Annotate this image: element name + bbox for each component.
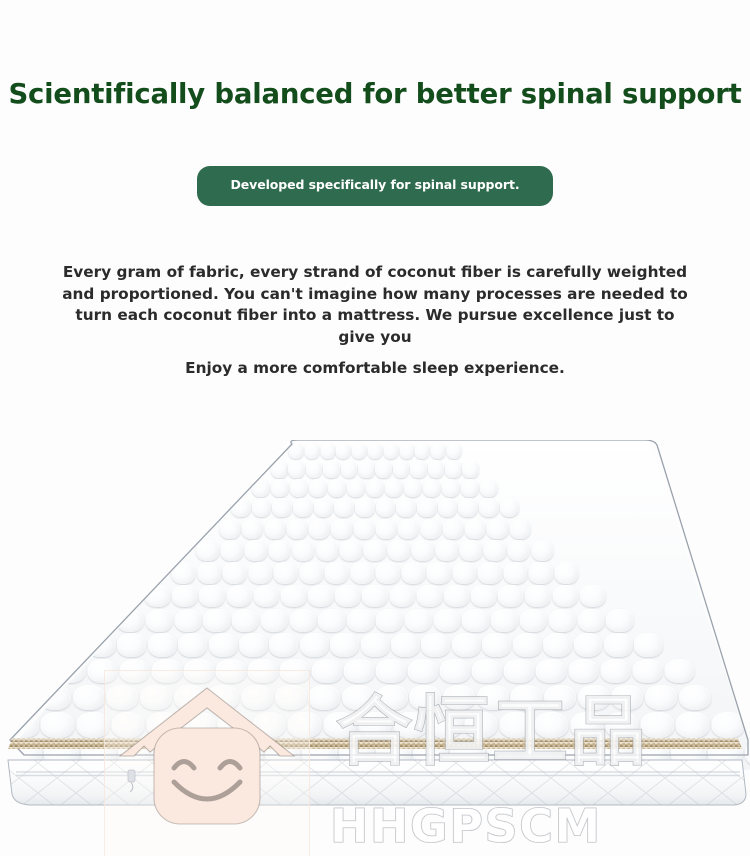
quilt-puff (410, 685, 442, 710)
quilt-puff (362, 585, 388, 607)
quilt-puff (320, 442, 335, 459)
quilt-puff (87, 633, 116, 657)
quilt-puff (376, 562, 400, 584)
quilt-puff (417, 498, 437, 517)
quilt-puff (316, 540, 339, 561)
quilt-puff (309, 519, 330, 539)
quilt-puff (148, 633, 177, 657)
quilt-puff (232, 609, 259, 632)
quilt-puff (325, 562, 349, 584)
quilt-puff (41, 712, 75, 738)
quilt-puff (271, 479, 289, 498)
quilt-puff (507, 540, 530, 561)
quilt-puff (196, 540, 219, 561)
quilt-puff (679, 685, 711, 710)
quilt-puff (366, 479, 384, 498)
quilt-puff (554, 562, 578, 584)
product-photo: 合恒工品 HHGPSCM (0, 330, 750, 856)
quilt-puff (355, 498, 375, 517)
quilt-puff (440, 659, 470, 684)
quilt-puff (462, 460, 479, 478)
quilt-puff (220, 519, 241, 539)
quilt-puff (444, 585, 470, 607)
quilt-puff (241, 685, 273, 710)
quilt-puff (147, 712, 181, 738)
quilt-puff (399, 442, 414, 459)
quilt-puff (376, 498, 396, 517)
quilt-puff (203, 609, 230, 632)
quilt-puff (261, 609, 288, 632)
quilt-puff (442, 479, 460, 498)
quilt-puff (459, 540, 482, 561)
quilt-puff (197, 562, 221, 584)
quilt-puff (252, 498, 272, 517)
quilt-puff (248, 659, 278, 684)
quilt-puff (570, 712, 604, 738)
quilt-puff (274, 562, 298, 584)
quilt-puff (573, 633, 602, 657)
quilt-puff (248, 562, 272, 584)
quilt-puff (330, 633, 359, 657)
quilt-puff (408, 659, 438, 684)
quilt-row (271, 460, 479, 478)
quilt-puff (336, 442, 351, 459)
quilt-puff (171, 562, 195, 584)
quilt-puff (429, 712, 463, 738)
quilt-puff (364, 540, 387, 561)
quilt-puff (252, 712, 286, 738)
quilt-puff (178, 633, 207, 657)
quilt-puff (145, 585, 171, 607)
quilt-row (220, 519, 531, 539)
quilt-puff (431, 442, 446, 459)
quilt-puff (220, 540, 243, 561)
quilt-puff (525, 585, 551, 607)
quilt-puff (174, 609, 201, 632)
quilt-puff (579, 585, 605, 607)
quilt-puff (396, 498, 416, 517)
mattress-side-panel (0, 748, 750, 818)
quilt-puff (479, 498, 499, 517)
quilt-puff (445, 460, 462, 478)
quilt-puff (482, 633, 511, 657)
quilt-puff (269, 633, 298, 657)
quilt-puff (152, 659, 182, 684)
mattress-quilting-pattern (0, 440, 750, 770)
quilt-puff (358, 712, 392, 738)
badge-container: Developed specifically for spinal suppor… (0, 166, 750, 206)
quilt-puff (383, 442, 398, 459)
quilt-puff (368, 442, 383, 459)
quilt-puff (606, 609, 633, 632)
quilt-puff (111, 712, 145, 738)
quilt-puff (428, 460, 445, 478)
quilt-puff (543, 633, 572, 657)
quilt-puff (335, 585, 361, 607)
quilt-puff (341, 460, 358, 478)
quilt-puff (612, 685, 644, 710)
quilt-puff (289, 609, 316, 632)
quilt-puff (299, 562, 323, 584)
quilt-puff (641, 712, 675, 738)
quilt-puff (375, 460, 392, 478)
quilt-puff (487, 519, 508, 539)
quilt-puff (182, 712, 216, 738)
quilt-puff (462, 609, 489, 632)
quilt-puff (309, 479, 327, 498)
quilt-puff (634, 633, 663, 657)
quilt-puff (499, 498, 519, 517)
quilt-puff (209, 633, 238, 657)
quilt-puff (288, 712, 322, 738)
quilt-puff (174, 685, 206, 710)
quilt-row (196, 540, 553, 561)
quilt-puff (483, 540, 506, 561)
quilt-puff (106, 685, 138, 710)
quilt-puff (344, 659, 374, 684)
quilt-puff (577, 609, 604, 632)
quilt-puff (271, 460, 288, 478)
quilt-row (171, 562, 578, 584)
quilt-puff (334, 498, 354, 517)
quilt-puff (544, 685, 576, 710)
quilt-puff (442, 519, 463, 539)
quilt-puff (389, 585, 415, 607)
quilt-puff (361, 633, 390, 657)
quilt-puff (347, 479, 365, 498)
quilt-puff (280, 659, 310, 684)
quilt-puff (328, 479, 346, 498)
quilt-row (231, 498, 519, 517)
quilt-row (39, 685, 711, 710)
quilt-puff (423, 479, 441, 498)
mattress-image (0, 440, 750, 840)
quilt-puff (711, 712, 745, 738)
quilt-puff (416, 585, 442, 607)
quilt-puff (471, 585, 497, 607)
quilt-puff (353, 519, 374, 539)
quilt-puff (465, 519, 486, 539)
quilt-puff (268, 540, 291, 561)
quilt-puff (410, 460, 427, 478)
quilt-puff (5, 712, 39, 738)
quilt-puff (401, 562, 425, 584)
quilt-puff (347, 609, 374, 632)
quilt-puff (184, 659, 214, 684)
quilt-puff (477, 685, 509, 710)
quilt-puff (535, 712, 569, 738)
quilt-puff (504, 659, 534, 684)
quilt-puff (632, 659, 662, 684)
quilt-puff (509, 519, 530, 539)
quilt-puff (676, 712, 710, 738)
quilt-puff (464, 712, 498, 738)
quilt-puff (323, 712, 357, 738)
quilt-puff (605, 712, 639, 738)
quilt-puff (117, 633, 146, 657)
quilt-puff (290, 479, 308, 498)
quilt-puff (664, 659, 694, 684)
quilt-puff (388, 540, 411, 561)
quilt-puff (145, 609, 172, 632)
quilt-puff (458, 498, 478, 517)
quilt-puff (427, 562, 451, 584)
quilt-puff (222, 562, 246, 584)
quilt-puff (420, 519, 441, 539)
quilt-puff (76, 712, 110, 738)
quilt-puff (394, 712, 428, 738)
quilt-puff (352, 442, 367, 459)
spinal-support-badge: Developed specifically for spinal suppor… (197, 166, 554, 206)
quilt-puff (312, 659, 342, 684)
quilt-puff (600, 659, 630, 684)
quilt-puff (452, 633, 481, 657)
quilt-puff (253, 585, 279, 607)
quilt-puff (398, 519, 419, 539)
quilt-puff (385, 479, 403, 498)
quilt-puff (511, 685, 543, 710)
quilt-puff (323, 460, 340, 478)
quilt-puff (404, 479, 422, 498)
quilt-puff (342, 685, 374, 710)
quilt-puff (478, 562, 502, 584)
quilt-puff (536, 659, 566, 684)
quilt-puff (443, 685, 475, 710)
quilt-puff (289, 442, 304, 459)
quilt-puff (231, 498, 251, 517)
quilt-puff (499, 712, 533, 738)
quilt-puff (288, 460, 305, 478)
quilt-puff (376, 519, 397, 539)
quilt-puff (252, 479, 270, 498)
page-title: Scientifically balanced for better spina… (0, 78, 750, 110)
quilt-puff (435, 540, 458, 561)
quilt-puff (39, 685, 71, 710)
quilt-puff (306, 460, 323, 478)
quilt-puff (331, 519, 352, 539)
quilt-puff (415, 442, 430, 459)
quilt-row (289, 442, 462, 459)
quilt-puff (548, 609, 575, 632)
quilt-puff (531, 540, 554, 561)
quilt-puff (405, 609, 432, 632)
quilt-puff (498, 585, 524, 607)
quilt-puff (292, 540, 315, 561)
quilt-puff (199, 585, 225, 607)
quilt-puff (217, 712, 251, 738)
quilt-puff (216, 659, 246, 684)
quilt-puff (300, 633, 329, 657)
quilt-puff (433, 609, 460, 632)
quilt-puff (376, 685, 408, 710)
quilt-puff (411, 540, 434, 561)
product-detail-page: Scientifically balanced for better spina… (0, 0, 750, 856)
quilt-puff (304, 442, 319, 459)
quilt-row (5, 712, 744, 738)
quilt-puff (393, 460, 410, 478)
quilt-puff (272, 498, 292, 517)
quilt-puff (568, 659, 598, 684)
quilt-puff (117, 609, 144, 632)
quilt-puff (520, 609, 547, 632)
quilt-puff (437, 498, 457, 517)
quilt-puff (264, 519, 285, 539)
quilt-puff (73, 685, 105, 710)
quilt-puff (88, 659, 118, 684)
quilt-puff (376, 609, 403, 632)
quilt-puff (552, 585, 578, 607)
quilt-row (117, 609, 634, 632)
quilt-puff (340, 540, 363, 561)
quilt-row (145, 585, 606, 607)
quilt-puff (503, 562, 527, 584)
quilt-puff (446, 442, 461, 459)
quilt-puff (172, 585, 198, 607)
quilt-puff (513, 633, 542, 657)
quilt-puff (55, 659, 85, 684)
quilt-puff (578, 685, 610, 710)
quilt-puff (529, 562, 553, 584)
quilt-puff (472, 659, 502, 684)
quilt-puff (491, 609, 518, 632)
quilt-puff (318, 609, 345, 632)
quilt-puff (358, 460, 375, 478)
quilt-puff (350, 562, 374, 584)
quilt-puff (207, 685, 239, 710)
quilt-puff (120, 659, 150, 684)
quilt-puff (480, 479, 498, 498)
quilt-row (252, 479, 498, 498)
quilt-puff (309, 685, 341, 710)
quilt-puff (461, 479, 479, 498)
quilt-puff (604, 633, 633, 657)
quilt-puff (226, 585, 252, 607)
quilt-puff (308, 585, 334, 607)
quilt-row (55, 659, 694, 684)
quilt-puff (645, 685, 677, 710)
quilt-puff (391, 633, 420, 657)
quilt-puff (275, 685, 307, 710)
quilt-puff (140, 685, 172, 710)
quilt-puff (376, 659, 406, 684)
quilt-puff (239, 633, 268, 657)
quilt-puff (244, 540, 267, 561)
quilt-puff (421, 633, 450, 657)
quilt-puff (314, 498, 334, 517)
quilt-puff (286, 519, 307, 539)
quilt-row (87, 633, 663, 657)
quilt-puff (242, 519, 263, 539)
quilt-puff (293, 498, 313, 517)
quilt-puff (281, 585, 307, 607)
quilt-puff (452, 562, 476, 584)
